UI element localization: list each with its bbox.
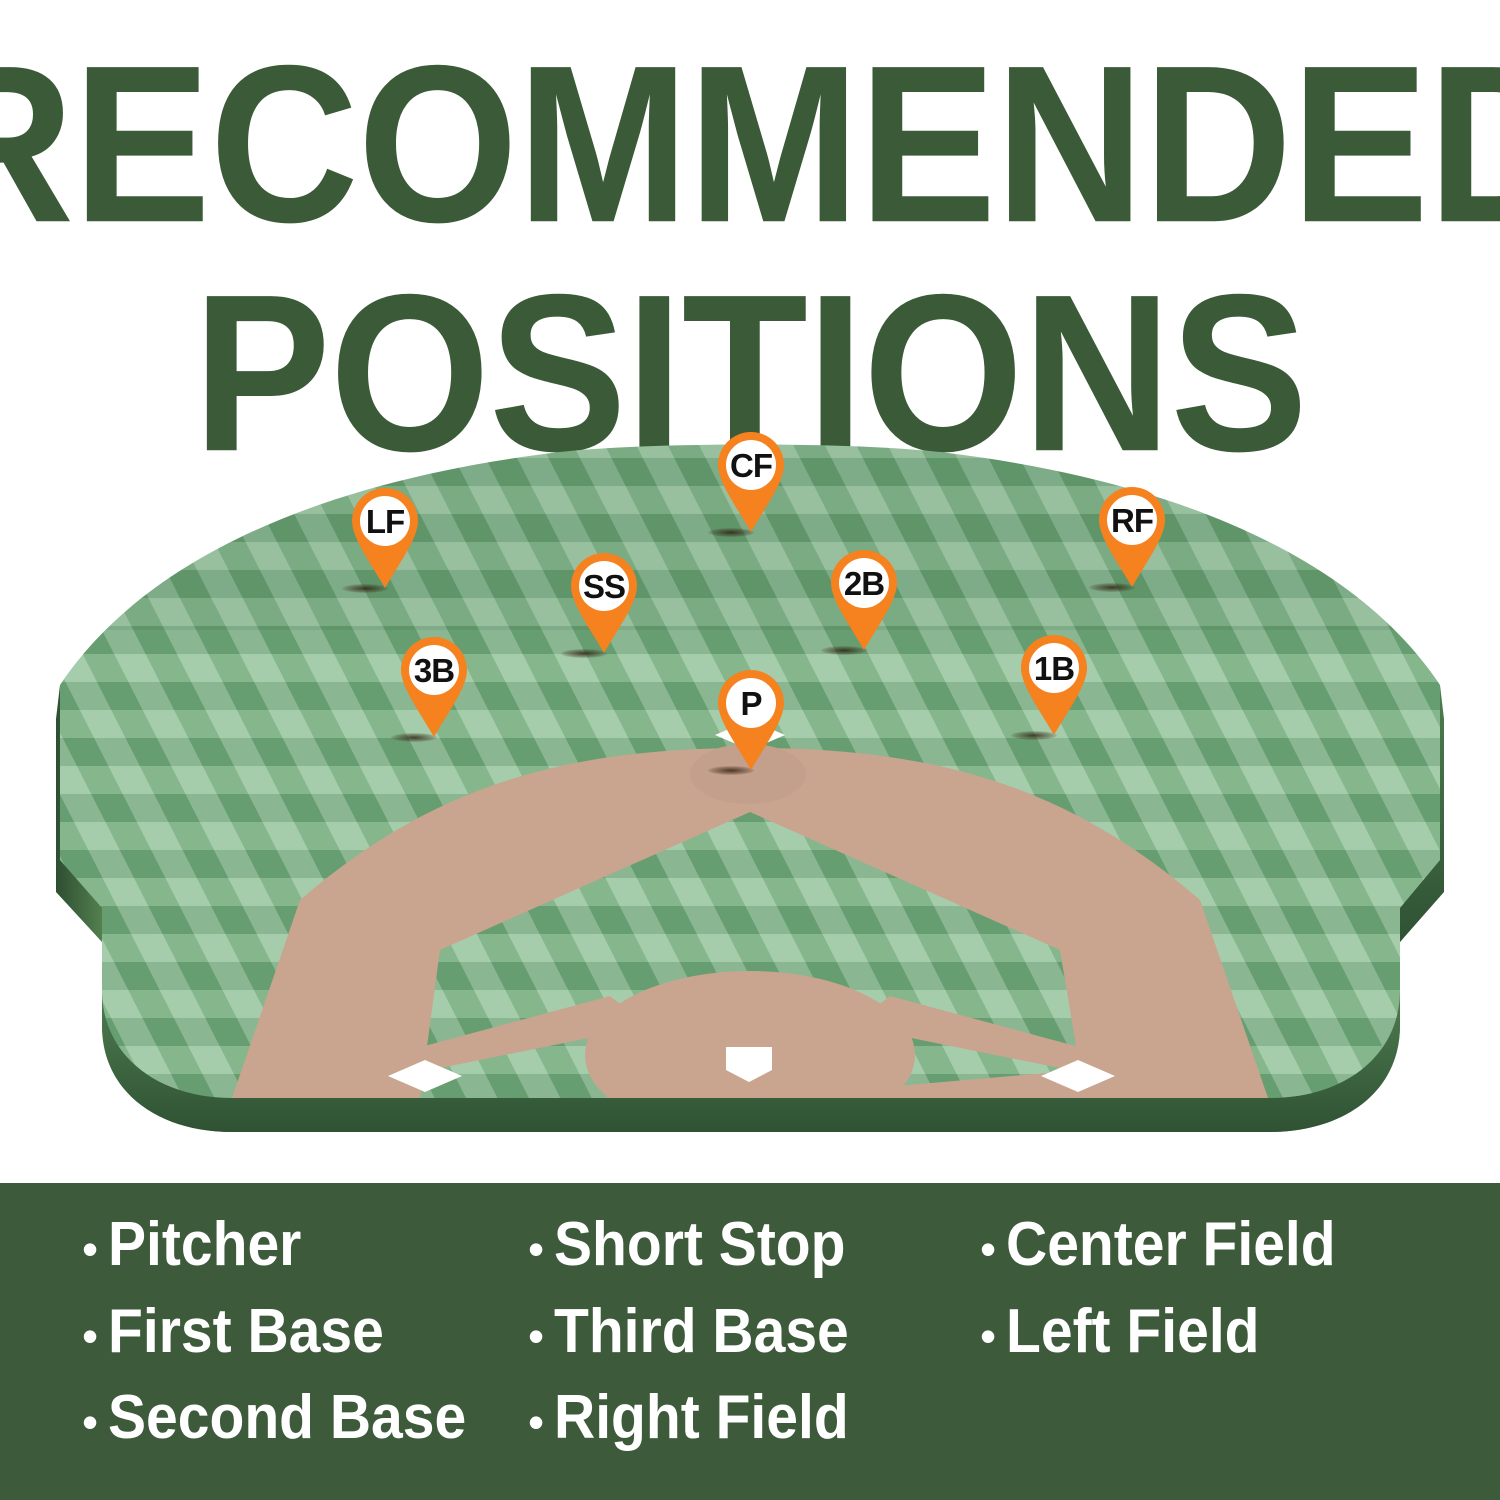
baseball-field-illustration: LFCFRFSS2B3B1BP xyxy=(0,430,1500,1150)
marker-pin-short-stop[interactable]: SS xyxy=(567,551,641,655)
marker-pin-first-base[interactable]: 1B xyxy=(1017,633,1091,737)
legend-item: •Second Base xyxy=(82,1378,520,1459)
legend-item: •Short Stop xyxy=(528,1205,980,1286)
legend-item-label: Second Base xyxy=(108,1378,466,1459)
legend-item: •Pitcher xyxy=(82,1205,520,1286)
positions-legend-panel: •Pitcher•First Base•Second Base•Short St… xyxy=(0,1183,1500,1500)
legend-item-label: Short Stop xyxy=(554,1205,845,1286)
legend-item-label: Third Base xyxy=(554,1292,849,1373)
legend-item: •Center Field xyxy=(980,1205,1500,1286)
marker-label-second-base: 2B xyxy=(827,557,901,609)
page-title-line-1: RECOMMENDED xyxy=(0,42,1500,248)
marker-label-short-stop: SS xyxy=(567,560,641,612)
bullet-icon: • xyxy=(980,1226,996,1272)
marker-pin-second-base[interactable]: 2B xyxy=(827,548,901,652)
marker-pin-pitcher[interactable]: P xyxy=(714,668,788,772)
marker-label-first-base: 1B xyxy=(1017,642,1091,694)
legend-column-1: •Pitcher•First Base•Second Base xyxy=(0,1205,520,1459)
marker-label-center-field: CF xyxy=(714,439,788,491)
bullet-icon: • xyxy=(82,1313,98,1359)
legend-item: •Third Base xyxy=(528,1292,980,1373)
legend-column-3: •Center Field•Left Field xyxy=(980,1205,1500,1459)
legend-item: •Left Field xyxy=(980,1292,1500,1373)
bullet-icon: • xyxy=(528,1399,544,1445)
positions-legend-grid: •Pitcher•First Base•Second Base•Short St… xyxy=(0,1183,1500,1500)
marker-pin-left-field[interactable]: LF xyxy=(348,486,422,590)
field-graphic xyxy=(0,430,1500,1150)
page-title-block: RECOMMENDED POSITIONS xyxy=(0,0,1500,430)
marker-label-third-base: 3B xyxy=(397,644,471,696)
marker-label-left-field: LF xyxy=(348,495,422,547)
marker-label-pitcher: P xyxy=(714,677,788,729)
marker-label-right-field: RF xyxy=(1095,494,1169,546)
marker-pin-right-field[interactable]: RF xyxy=(1095,485,1169,589)
bullet-icon: • xyxy=(82,1399,98,1445)
marker-pin-third-base[interactable]: 3B xyxy=(397,635,471,739)
legend-item-label: Left Field xyxy=(1006,1292,1260,1373)
marker-pin-center-field[interactable]: CF xyxy=(714,430,788,534)
bullet-icon: • xyxy=(528,1313,544,1359)
bullet-icon: • xyxy=(980,1313,996,1359)
legend-item-label: Right Field xyxy=(554,1378,849,1459)
bullet-icon: • xyxy=(82,1226,98,1272)
legend-item: •Right Field xyxy=(528,1378,980,1459)
legend-item-label: Center Field xyxy=(1006,1205,1336,1286)
field-grass xyxy=(0,430,1500,1150)
legend-item: •First Base xyxy=(82,1292,520,1373)
legend-column-2: •Short Stop•Third Base•Right Field xyxy=(520,1205,980,1459)
legend-item-label: Pitcher xyxy=(108,1205,301,1286)
bullet-icon: • xyxy=(528,1226,544,1272)
legend-item-label: First Base xyxy=(108,1292,384,1373)
